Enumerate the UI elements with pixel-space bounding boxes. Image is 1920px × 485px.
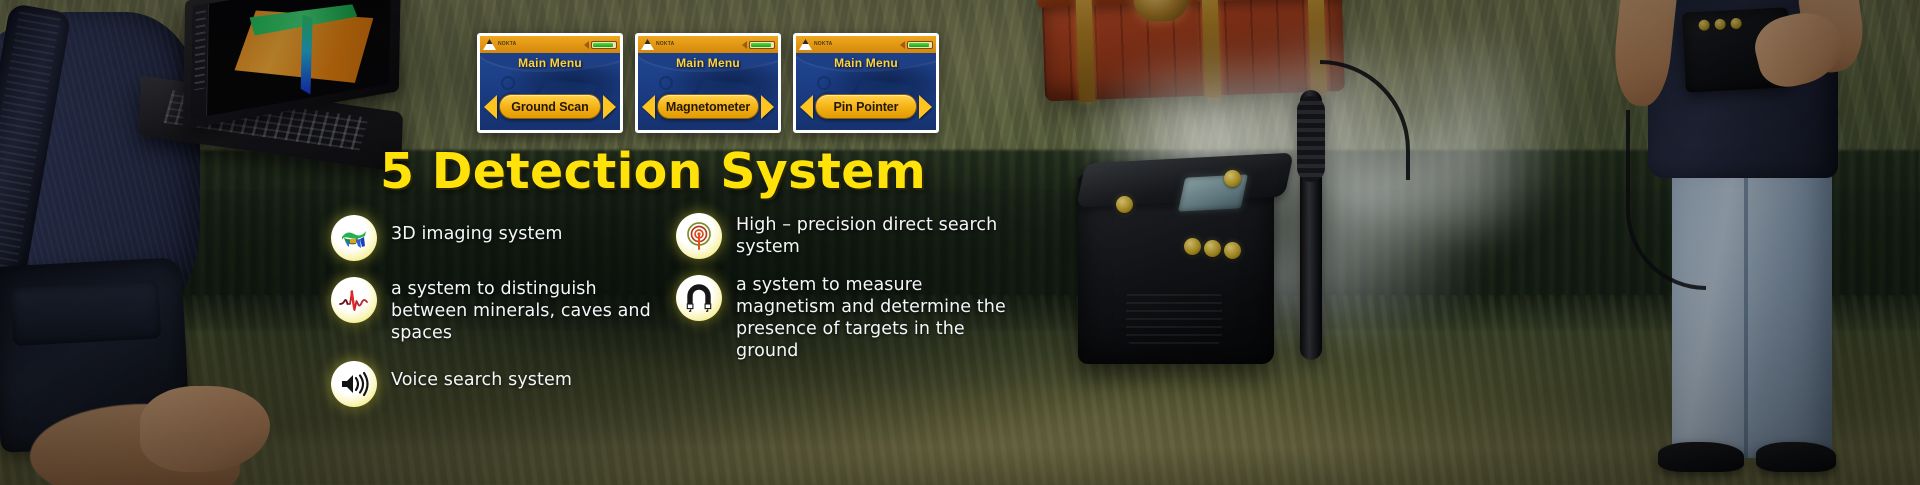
prev-mode-arrow-icon[interactable]: [642, 95, 655, 119]
prev-mode-arrow-icon[interactable]: [800, 95, 813, 119]
brand-logo: NOKTA: [641, 39, 674, 50]
waveform-pulse-icon: [331, 277, 377, 323]
screen-title: Main Menu: [480, 56, 620, 70]
magnet-icon: [676, 275, 722, 321]
battery-icon: [591, 41, 617, 49]
mode-button[interactable]: Ground Scan: [499, 94, 601, 119]
next-mode-arrow-icon[interactable]: [603, 95, 616, 119]
list-item-label: a system to distinguish between minerals…: [391, 277, 661, 345]
list-item: High – precision direct search system: [676, 213, 1026, 259]
speaker-sound-icon: [331, 361, 377, 407]
list-item-label: a system to measure magnetism and determ…: [736, 275, 1026, 363]
battery-icon: [907, 41, 933, 49]
control-unit-knobs[interactable]: [1698, 18, 1742, 31]
screen-status-bar: NOKTA: [480, 36, 620, 53]
detector-knob[interactable]: [1116, 196, 1133, 213]
screen-mode-selector: Pin Pointer: [796, 94, 936, 119]
detector-main-unit: [1078, 150, 1298, 370]
brand-name: NOKTA: [498, 42, 516, 47]
screen-mode-selector: Magnetometer: [638, 94, 778, 119]
mode-button[interactable]: Magnetometer: [657, 94, 759, 119]
screen-status-bar: NOKTA: [796, 36, 936, 53]
brand-logo: NOKTA: [483, 39, 516, 50]
screen-title: Main Menu: [638, 56, 778, 70]
next-mode-arrow-icon[interactable]: [761, 95, 774, 119]
screen-mode-selector: Ground Scan: [480, 94, 620, 119]
list-item: a system to measure magnetism and determ…: [676, 275, 1026, 363]
prev-mode-arrow-icon[interactable]: [484, 95, 497, 119]
detector-vent: [1126, 292, 1222, 344]
screen-status-icons: [900, 41, 933, 49]
mountain-logo-icon: [799, 39, 812, 50]
feature-list-left: 3D imaging system a system to distinguis…: [331, 215, 661, 423]
list-item: 3D imaging system: [331, 215, 661, 261]
detector-knob[interactable]: [1204, 240, 1221, 257]
list-item: Voice search system: [331, 361, 661, 407]
list-item: a system to distinguish between minerals…: [331, 277, 661, 345]
list-item-label: High – precision direct search system: [736, 213, 1026, 259]
feature-list-right: High – precision direct search system a …: [676, 213, 1026, 379]
brand-logo: NOKTA: [799, 39, 832, 50]
battery-icon: [749, 41, 775, 49]
speaker-icon: [900, 41, 905, 49]
right-technician: [1630, 0, 1920, 485]
detector-knob[interactable]: [1184, 238, 1201, 255]
list-item-label: 3D imaging system: [391, 215, 563, 246]
device-screen-magnetometer[interactable]: NOKTA Main Menu Magnetometer: [635, 33, 781, 133]
control-unit-cord: [1626, 110, 1706, 290]
right-technician-shoe: [1658, 442, 1744, 472]
detector-pole-grip: [1297, 96, 1325, 182]
speaker-icon: [742, 41, 747, 49]
right-technician-shoe: [1756, 442, 1836, 472]
detector-knob[interactable]: [1224, 170, 1241, 187]
brand-name: NOKTA: [814, 42, 832, 47]
brand-name: NOKTA: [656, 42, 674, 47]
next-mode-arrow-icon[interactable]: [919, 95, 932, 119]
3d-terrain-icon: [331, 215, 377, 261]
mode-button[interactable]: Pin Pointer: [815, 94, 917, 119]
device-menu-screens: NOKTA Main Menu Ground Scan: [477, 33, 939, 133]
device-screen-ground-scan[interactable]: NOKTA Main Menu Ground Scan: [477, 33, 623, 133]
screen-title: Main Menu: [796, 56, 936, 70]
detector-knob[interactable]: [1224, 242, 1241, 259]
page-title: 5 Detection System: [380, 143, 926, 200]
promo-banner: NOKTA Main Menu Ground Scan: [0, 0, 1920, 485]
mountain-logo-icon: [641, 39, 654, 50]
3d-scan-visualization: [233, 0, 374, 93]
speaker-icon: [584, 41, 589, 49]
mountain-logo-icon: [483, 39, 496, 50]
laptop-with-3d-scan: [146, 0, 396, 146]
radio-signal-icon: [676, 213, 722, 259]
screen-status-bar: NOKTA: [638, 36, 778, 53]
list-item-label: Voice search system: [391, 361, 572, 392]
screen-status-icons: [742, 41, 775, 49]
device-screen-pin-pointer[interactable]: NOKTA Main Menu Pin Pointer: [793, 33, 939, 133]
laptop-software-toolbar: [191, 4, 209, 119]
laptop-screen: [191, 0, 391, 119]
screen-status-icons: [584, 41, 617, 49]
